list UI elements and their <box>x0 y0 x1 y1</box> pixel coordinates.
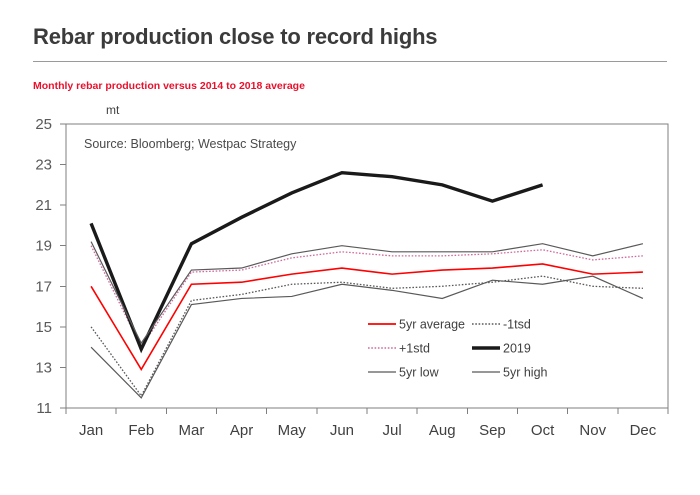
legend-item-2019: 2019 <box>472 341 531 355</box>
series-line-5yr-high <box>91 242 643 343</box>
x-tick-label-jan: Jan <box>79 422 103 439</box>
x-tick-label-aug: Aug <box>429 422 456 439</box>
y-tick-label: 11 <box>36 400 52 417</box>
y-tick-label: 23 <box>35 157 52 174</box>
x-tick-label-jun: Jun <box>330 422 354 439</box>
legend-item--1tsd: -1tsd <box>472 317 531 331</box>
x-tick-label-apr: Apr <box>230 422 253 439</box>
page-title: Rebar production close to record highs <box>33 24 437 50</box>
legend-item-5yr-high: 5yr high <box>472 365 548 379</box>
series-lines <box>91 173 643 398</box>
legend-label: 5yr low <box>399 365 440 379</box>
x-tick-label-mar: Mar <box>178 422 204 439</box>
y-tick-label: 19 <box>35 238 52 255</box>
series-line-5yr-low <box>91 276 643 398</box>
slide-root: Rebar production close to record highs M… <box>0 0 700 495</box>
legend-label: 5yr average <box>399 317 465 331</box>
chart-legend: 5yr average-1tsd+1std20195yr low5yr high <box>368 317 548 379</box>
x-tick-label-feb: Feb <box>128 422 154 439</box>
x-axis-ticks <box>66 408 668 414</box>
y-axis-tick-labels: 1113151719212325 <box>35 116 52 417</box>
x-tick-label-jul: Jul <box>382 422 401 439</box>
y-tick-label: 15 <box>35 319 52 336</box>
y-tick-label: 13 <box>35 359 52 376</box>
plot-border <box>66 124 668 408</box>
x-tick-label-dec: Dec <box>630 422 657 439</box>
legend-label: 2019 <box>503 341 531 355</box>
chart-container: 1113151719212325 JanFebMarAprMayJunJulAu… <box>0 96 700 456</box>
x-axis-tick-labels: JanFebMarAprMayJunJulAugSepOctNovDec <box>79 422 657 439</box>
x-tick-label-oct: Oct <box>531 422 555 439</box>
series-line-2019 <box>91 173 542 349</box>
legend-label: +1std <box>399 341 430 355</box>
y-axis-ticks <box>60 124 66 408</box>
title-divider <box>33 61 667 62</box>
legend-label: -1tsd <box>503 317 531 331</box>
legend-label: 5yr high <box>503 365 548 379</box>
legend-item-5yr-low: 5yr low <box>368 365 440 379</box>
y-axis-unit-label: mt <box>106 103 120 117</box>
chart-subtitle: Monthly rebar production versus 2014 to … <box>33 80 305 92</box>
y-tick-label: 21 <box>35 197 52 214</box>
x-tick-label-sep: Sep <box>479 422 506 439</box>
y-tick-label: 25 <box>35 116 52 133</box>
plot-frame <box>66 124 668 408</box>
source-note: Source: Bloomberg; Westpac Strategy <box>84 137 297 151</box>
x-tick-label-may: May <box>278 422 307 439</box>
x-tick-label-nov: Nov <box>579 422 606 439</box>
rebar-production-line-chart: 1113151719212325 JanFebMarAprMayJunJulAu… <box>0 96 700 456</box>
legend-item--1std: +1std <box>368 341 430 355</box>
y-tick-label: 17 <box>35 278 52 295</box>
legend-item-5yr-average: 5yr average <box>368 317 465 331</box>
